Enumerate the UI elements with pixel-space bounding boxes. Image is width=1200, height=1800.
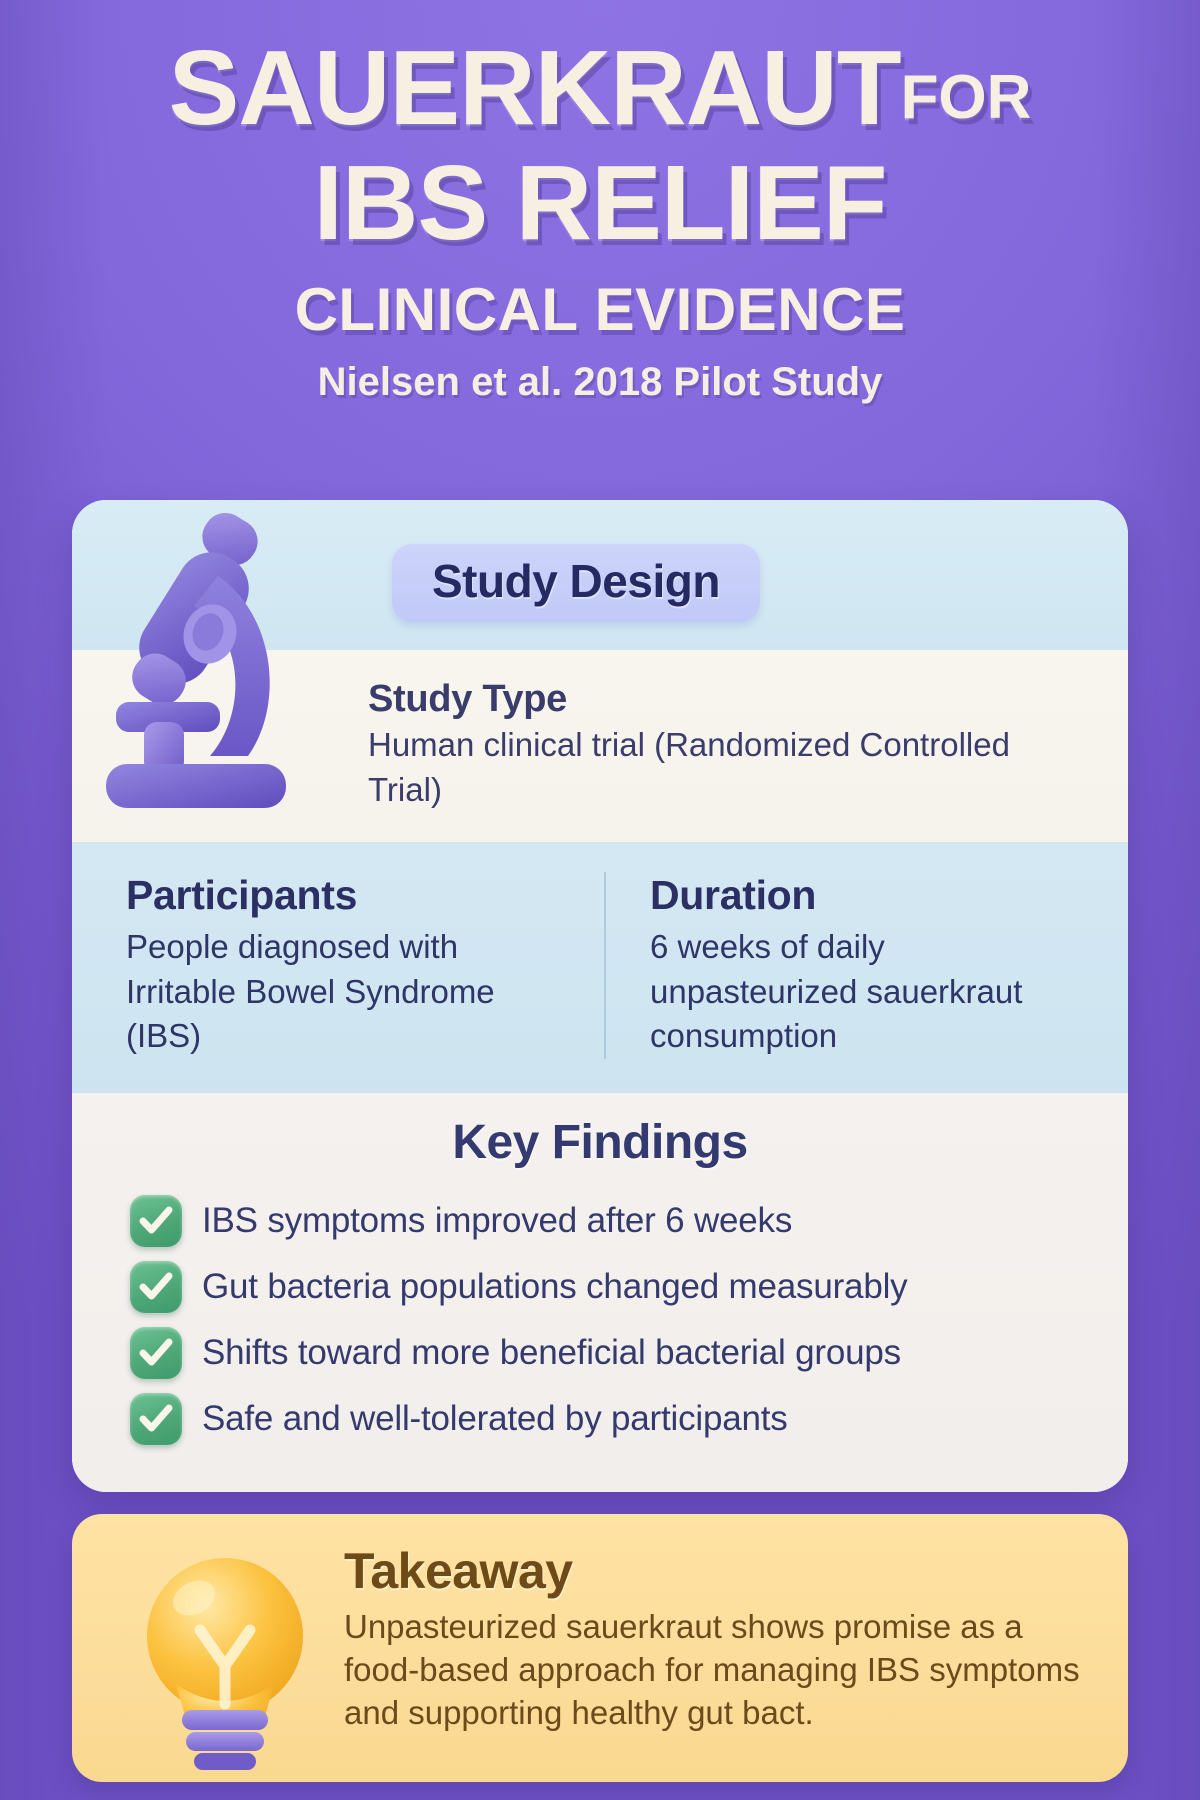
study-type-value: Human clinical trial (Randomized Control… bbox=[368, 723, 1088, 812]
duration-label: Duration bbox=[650, 872, 1094, 919]
key-findings-section: Key Findings IBS symptoms improved after… bbox=[72, 1093, 1128, 1492]
key-findings-list: IBS symptoms improved after 6 weeksGut b… bbox=[72, 1188, 1128, 1452]
key-finding-item: IBS symptoms improved after 6 weeks bbox=[72, 1188, 1128, 1254]
check-icon bbox=[130, 1195, 182, 1247]
key-finding-text: Shifts toward more beneficial bacterial … bbox=[202, 1333, 901, 1373]
key-finding-item: Gut bacteria populations changed measura… bbox=[72, 1254, 1128, 1320]
study-design-badge: Study Design bbox=[392, 544, 760, 622]
key-findings-title: Key Findings bbox=[72, 1115, 1128, 1170]
takeaway-title: Takeaway bbox=[344, 1542, 1094, 1600]
title-line-1: SAUERKRAUTFOR bbox=[0, 34, 1200, 142]
lightbulb-icon bbox=[130, 1544, 320, 1774]
takeaway-text: Unpasteurized sauerkraut shows promise a… bbox=[344, 1606, 1094, 1735]
title-main-word: SAUERKRAUT bbox=[169, 29, 901, 147]
study-design-card: Study Design bbox=[72, 500, 1128, 1492]
page-header: SAUERKRAUTFOR IBS RELIEF CLINICAL EVIDEN… bbox=[0, 34, 1200, 405]
key-finding-text: Gut bacteria populations changed measura… bbox=[202, 1267, 907, 1307]
participants-column: Participants People diagnosed with Irrit… bbox=[72, 872, 604, 1059]
key-finding-text: IBS symptoms improved after 6 weeks bbox=[202, 1201, 792, 1241]
participants-label: Participants bbox=[126, 872, 570, 919]
duration-value: 6 weeks of daily unpasteurized sauerkrau… bbox=[650, 925, 1094, 1059]
title-for-word: FOR bbox=[901, 63, 1032, 132]
check-icon bbox=[130, 1261, 182, 1313]
page-subtitle: CLINICAL EVIDENCE bbox=[0, 275, 1200, 344]
microscope-icon bbox=[98, 506, 328, 836]
takeaway-card: Takeaway Unpasteurized sauerkraut shows … bbox=[72, 1514, 1128, 1782]
study-design-badge-label: Study Design bbox=[432, 555, 720, 607]
study-type-label: Study Type bbox=[368, 678, 1088, 721]
check-icon bbox=[130, 1327, 182, 1379]
duration-column: Duration 6 weeks of daily unpasteurized … bbox=[604, 872, 1128, 1059]
study-byline: Nielsen et al. 2018 Pilot Study bbox=[0, 360, 1200, 405]
check-icon bbox=[130, 1393, 182, 1445]
infographic-page: SAUERKRAUTFOR IBS RELIEF CLINICAL EVIDEN… bbox=[0, 0, 1200, 1800]
key-finding-text: Safe and well-tolerated by participants bbox=[202, 1399, 788, 1439]
participants-duration-section: Participants People diagnosed with Irrit… bbox=[72, 842, 1128, 1093]
key-finding-item: Safe and well-tolerated by participants bbox=[72, 1386, 1128, 1452]
participants-value: People diagnosed with Irritable Bowel Sy… bbox=[126, 925, 570, 1059]
title-line-2: IBS RELIEF bbox=[0, 146, 1200, 260]
key-finding-item: Shifts toward more beneficial bacterial … bbox=[72, 1320, 1128, 1386]
